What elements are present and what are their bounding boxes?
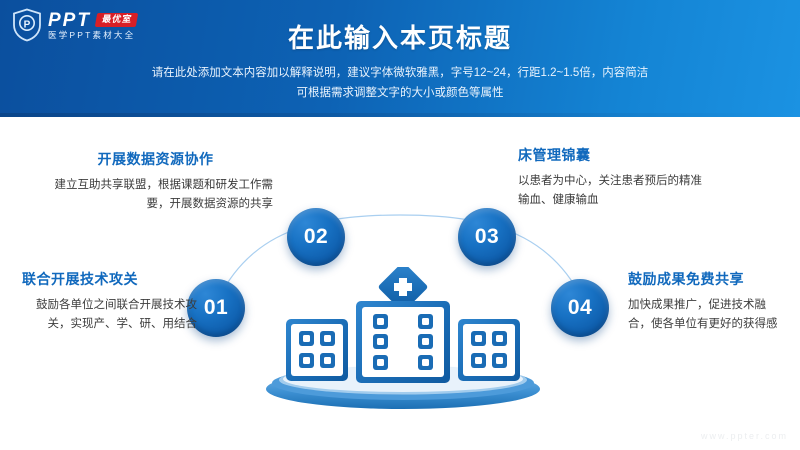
slide-header: P PPT 最优室 医学PPT素材大全 在此输入本页标题 请在此处添加文本内容加… — [0, 0, 800, 117]
step-text-block-04: 鼓励成果免费共享 加快成果推广，促进技术融合，使各单位有更好的获得感 — [628, 269, 788, 334]
step-node-04[interactable]: 04 — [551, 279, 609, 337]
hospital-building-icon — [258, 267, 548, 412]
step-text-block-01: 联合开展技术攻关 鼓励各单位之间联合开展技术攻关，实现产、学、研、用结合 — [22, 269, 197, 334]
step-heading-01: 联合开展技术攻关 — [22, 269, 197, 289]
step-body-04: 加快成果推广，促进技术融合，使各单位有更好的获得感 — [628, 296, 788, 334]
subtitle-line-2: 可根据需求调整文字的大小或颜色等属性 — [0, 83, 800, 103]
step-text-block-02: 开展数据资源协作 建立互助共享联盟，根据课题和研发工作需要，开展数据资源的共享 — [48, 149, 273, 214]
step-body-01: 鼓励各单位之间联合开展技术攻关，实现产、学、研、用结合 — [22, 296, 197, 334]
watermark: www.ppter.com — [701, 431, 788, 441]
step-heading-04: 鼓励成果免费共享 — [628, 269, 788, 289]
step-text-block-03: 床管理锦囊 以患者为中心，关注患者预后的精准输血、健康输血 — [518, 145, 708, 210]
step-node-02[interactable]: 02 — [287, 208, 345, 266]
diagram-canvas: 01 02 03 04 联合开展技术攻关 鼓励各单位之间联合开展技术攻关，实现产… — [0, 117, 800, 450]
step-body-03: 以患者为中心，关注患者预后的精准输血、健康输血 — [518, 172, 708, 210]
step-heading-02: 开展数据资源协作 — [48, 149, 273, 169]
step-heading-03: 床管理锦囊 — [518, 145, 708, 165]
step-node-03[interactable]: 03 — [458, 208, 516, 266]
page-subtitle: 请在此处添加文本内容加以解释说明，建议字体微软雅黑，字号12~24，行距1.2~… — [0, 63, 800, 103]
step-body-02: 建立互助共享联盟，根据课题和研发工作需要，开展数据资源的共享 — [48, 176, 273, 214]
subtitle-line-1: 请在此处添加文本内容加以解释说明，建议字体微软雅黑，字号12~24，行距1.2~… — [0, 63, 800, 83]
slide: P PPT 最优室 医学PPT素材大全 在此输入本页标题 请在此处添加文本内容加… — [0, 0, 800, 450]
page-title: 在此输入本页标题 — [0, 18, 800, 55]
